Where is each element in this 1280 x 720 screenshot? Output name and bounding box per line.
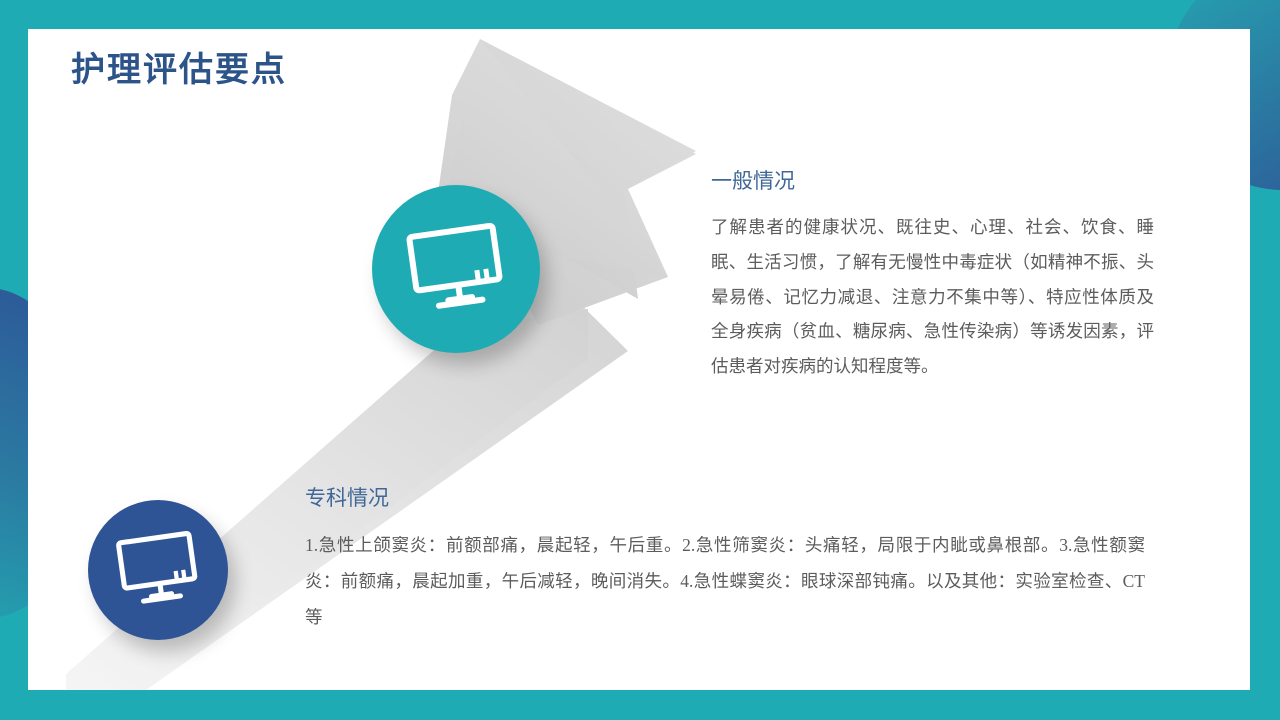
text-block-special: 专科情况 1.急性上颌窦炎：前额部痛，晨起轻，午后重。2.急性筛窦炎：头痛轻，局… — [305, 484, 1145, 636]
block-heading-general: 一般情况 — [711, 167, 1154, 196]
slide-background: 护理评估要点 — [0, 0, 1280, 720]
icon-circle-general[interactable] — [372, 185, 540, 353]
monitor-icon — [114, 531, 202, 609]
monitor-icon — [404, 223, 508, 315]
text-block-general: 一般情况 了解患者的健康状况、既往史、心理、社会、饮食、睡眠、生活习惯，了解有无… — [711, 167, 1154, 384]
icon-circle-special[interactable] — [88, 500, 228, 640]
block-heading-special: 专科情况 — [305, 484, 1145, 513]
page-title: 护理评估要点 — [71, 51, 287, 92]
content-card: 护理评估要点 — [28, 29, 1250, 690]
block-body-general: 了解患者的健康状况、既往史、心理、社会、饮食、睡眠、生活习惯，了解有无慢性中毒症… — [711, 210, 1154, 383]
block-body-special: 1.急性上颌窦炎：前额部痛，晨起轻，午后重。2.急性筛窦炎：头痛轻，局限于内眦或… — [305, 527, 1145, 635]
